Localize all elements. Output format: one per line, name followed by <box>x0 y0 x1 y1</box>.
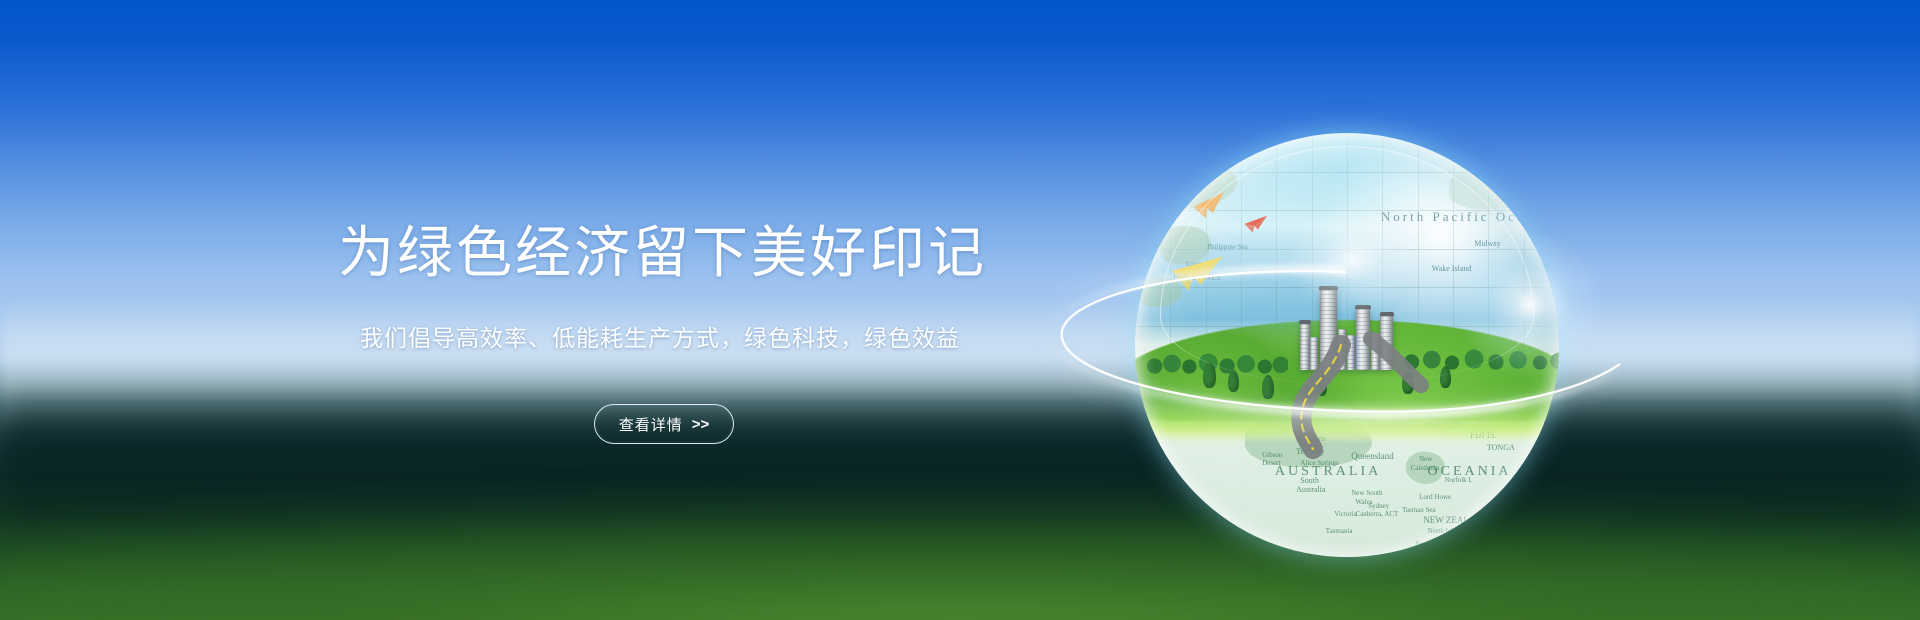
globe-illustration: North Pacific OceanMidwayWake IslandPHIL… <box>1135 133 1559 557</box>
hero-copy-block: 为绿色经济留下美好印记 我们倡导高效率、低能耗生产方式，绿色科技，绿色效益 查看… <box>0 0 1160 620</box>
page-subtitle: 我们倡导高效率、低能耗生产方式，绿色科技，绿色效益 <box>360 325 960 353</box>
hero-banner: North Pacific OceanMidwayWake IslandPHIL… <box>0 0 1920 620</box>
globe-sphere: North Pacific OceanMidwayWake IslandPHIL… <box>1135 133 1559 557</box>
view-details-button[interactable]: 查看详情 >> <box>594 404 734 444</box>
view-details-label: 查看详情 <box>619 414 683 435</box>
winding-road <box>1135 133 1559 557</box>
page-title: 为绿色经济留下美好印记 <box>338 222 987 285</box>
double-chevron-right-icon: >> <box>692 416 710 433</box>
